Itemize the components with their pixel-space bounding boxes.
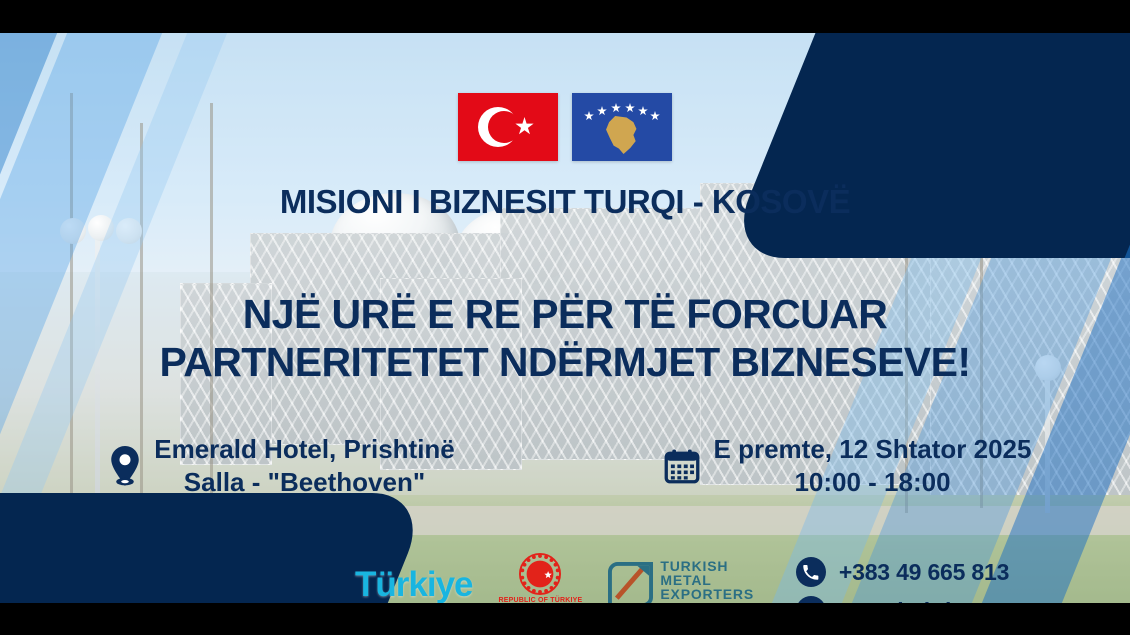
time-line: 10:00 - 18:00 [714, 466, 1032, 499]
calendar-icon [664, 448, 700, 484]
website-row[interactable]: www.b2b-kosova.com [796, 596, 1076, 603]
letterbox-bottom [0, 603, 1130, 635]
kosovo-map-icon [603, 116, 641, 154]
contact-block: +383 49 665 813 www.b2b-kosova.com [796, 557, 1076, 603]
ministry-of-trade-logo: REPUBLIC OF TÜRKIYE MINISTRY OF TRADE [499, 553, 583, 603]
location-pin-icon [110, 446, 140, 486]
flags-row [0, 93, 1130, 161]
event-headline: NJË URË E RE PËR TË FORCUAR PARTNERITETE… [0, 291, 1130, 387]
datetime-text: E premte, 12 Shtator 2025 10:00 - 18:00 [714, 433, 1032, 500]
metal-exporters-mark-icon [608, 562, 653, 603]
phone-row[interactable]: +383 49 665 813 [796, 557, 1076, 587]
venue-text: Emerald Hotel, Prishtinë Salla - "Beetho… [154, 433, 455, 500]
info-row: Emerald Hotel, Prishtinë Salla - "Beetho… [0, 433, 1130, 500]
turkey-flag [458, 93, 558, 161]
letterbox-top [0, 0, 1130, 33]
kosovo-flag [572, 93, 672, 161]
sponsor-logos: Türkiye [355, 553, 847, 603]
headline-line-1: NJË URË E RE PËR TË FORCUAR [0, 291, 1130, 339]
turkiye-logo: Türkiye [355, 565, 473, 603]
phone-number: +383 49 665 813 [839, 559, 1009, 586]
event-poster: MISIONI I BIZNESIT TURQI - KOSOVË NJË UR… [0, 0, 1130, 635]
venue-line-1: Emerald Hotel, Prishtinë [154, 433, 455, 466]
globe-icon [796, 596, 826, 603]
venue-line-2: Salla - "Beethoven" [154, 466, 455, 499]
crescent-cutout [488, 111, 520, 143]
phone-icon [796, 557, 826, 587]
photo-backdrop: MISIONI I BIZNESIT TURQI - KOSOVË NJË UR… [0, 33, 1130, 603]
ministry-emblem-icon [519, 553, 561, 595]
headline-line-2: PARTNERITETET NDËRMJET BIZNESEVE! [0, 339, 1130, 387]
event-kicker: MISIONI I BIZNESIT TURQI - KOSOVË [0, 183, 1130, 221]
datetime-block: E premte, 12 Shtator 2025 10:00 - 18:00 [565, 433, 1130, 500]
date-line: E premte, 12 Shtator 2025 [714, 433, 1032, 466]
kosovo-stars [584, 103, 660, 119]
venue-block: Emerald Hotel, Prishtinë Salla - "Beetho… [0, 433, 565, 500]
